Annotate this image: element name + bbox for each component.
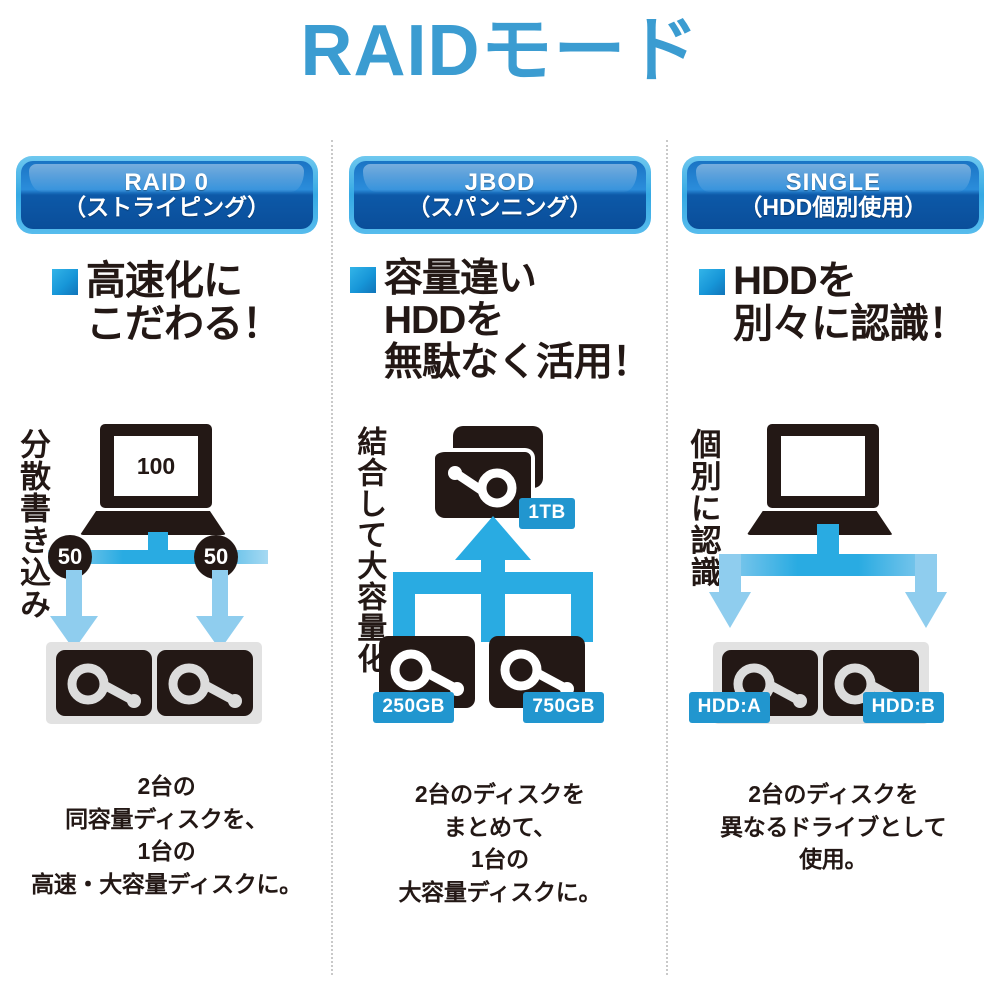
mode-column-single: SINGLE （HDD個別使用） HDDを 別々に認識！ 個別に認識 <box>667 140 1000 1000</box>
caption-raid0: 2台の 同容量ディスクを、 1台の 高速・大容量ディスクに。 <box>0 770 333 901</box>
hdd-icon <box>56 650 152 716</box>
mode-title: RAID 0 <box>124 170 209 195</box>
laptop-icon: 100 <box>96 424 216 535</box>
mode-header-inner: SINGLE （HDD個別使用） <box>687 161 979 229</box>
mode-header-jbod[interactable]: JBOD （スパンニング） <box>349 156 651 234</box>
laptop-screen-value <box>781 436 865 496</box>
mode-subtitle: （ストライピング） <box>63 195 270 220</box>
mode-header-single[interactable]: SINGLE （HDD個別使用） <box>682 156 984 234</box>
split-arrows-icon <box>703 524 953 644</box>
laptop-lid: 100 <box>100 424 212 508</box>
caption-single: 2台のディスクを 異なるドライブとして 使用。 <box>667 778 1000 876</box>
headline-jbod: 容量違い HDDを 無駄なく活用！ <box>333 258 666 384</box>
laptop-lid <box>767 424 879 508</box>
mode-header-inner: JBOD （スパンニング） <box>354 161 646 229</box>
capacity-tag-disk2: 750GB <box>523 692 604 723</box>
vertical-label: 結合して大容量化 <box>343 426 383 674</box>
mode-title: SINGLE <box>786 170 881 195</box>
hdd-bay <box>46 642 262 724</box>
headline-text: HDDを 別々に認識！ <box>733 260 967 346</box>
square-bullet-icon <box>52 269 78 295</box>
mode-column-raid0: RAID 0 （ストライピング） 高速化に こだわる！ 分散書き込み 100 5… <box>0 140 333 1000</box>
mode-header-inner: RAID 0 （ストライピング） <box>21 161 313 229</box>
laptop-screen-value: 100 <box>114 436 198 496</box>
drive-tag-a: HDD:A <box>689 692 771 723</box>
hdd-icon <box>157 650 253 716</box>
laptop-icon <box>763 424 883 535</box>
square-bullet-icon <box>699 269 725 295</box>
drive-tag-b: HDD:B <box>863 692 945 723</box>
square-bullet-icon <box>350 267 376 293</box>
mode-title: JBOD <box>465 170 536 195</box>
diagram-raid0: 分散書き込み 100 50 50 <box>0 420 333 750</box>
vertical-label: 分散書き込み <box>8 428 48 620</box>
mode-subtitle: （HDD個別使用） <box>739 195 927 220</box>
diagram-jbod: 結合して大容量化 1TB <box>333 420 666 750</box>
merge-arrow-icon <box>385 516 601 642</box>
mode-column-jbod: JBOD （スパンニング） 容量違い HDDを 無駄なく活用！ 結合して大容量化 <box>333 140 666 1000</box>
headline-single: HDDを 別々に認識！ <box>667 260 1000 346</box>
caption-jbod: 2台のディスクを まとめて、 1台の 大容量ディスクに。 <box>333 778 666 909</box>
trunk-connector-icon <box>148 532 168 562</box>
headline-text: 容量違い HDDを 無駄なく活用！ <box>384 258 650 384</box>
mode-subtitle: （スパンニング） <box>407 195 592 220</box>
mode-columns: RAID 0 （ストライピング） 高速化に こだわる！ 分散書き込み 100 5… <box>0 140 1000 1000</box>
headline-raid0: 高速化に こだわる！ <box>0 260 333 346</box>
capacity-tag-disk1: 250GB <box>373 692 454 723</box>
headline-text: 高速化に こだわる！ <box>86 260 281 346</box>
diagram-single: 個別に認識 <box>667 420 1000 750</box>
page-title: RAIDモード <box>0 14 1000 90</box>
mode-header-raid0[interactable]: RAID 0 （ストライピング） <box>16 156 318 234</box>
